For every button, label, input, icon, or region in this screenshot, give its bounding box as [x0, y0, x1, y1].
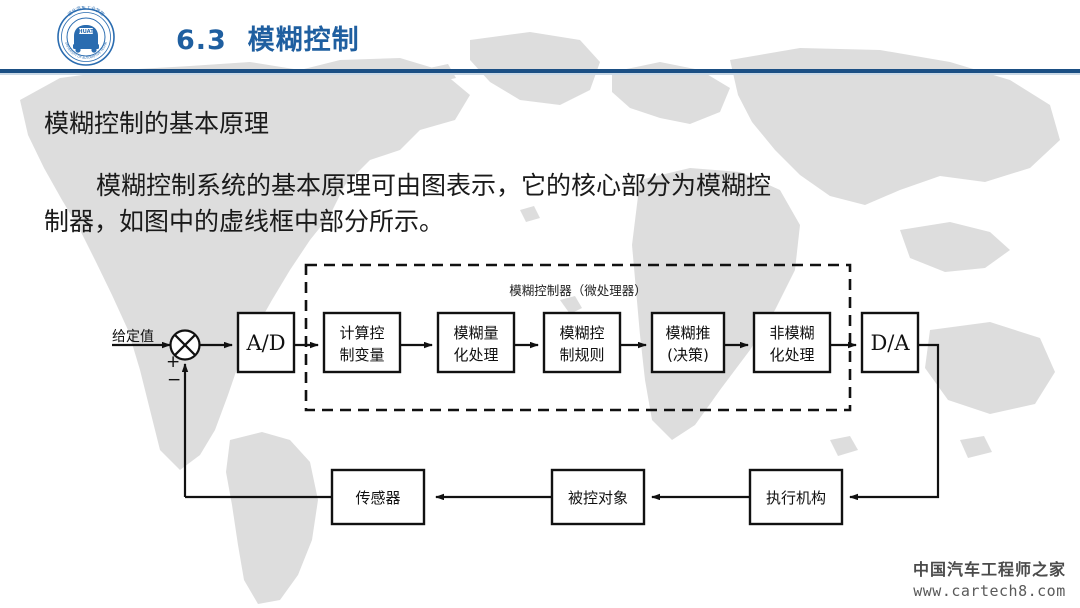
header-divider-light — [0, 73, 1080, 75]
svg-text:HUAT: HUAT — [78, 29, 94, 35]
block-sensor: 传感器 — [332, 470, 424, 524]
block-ad: A/D — [238, 313, 294, 372]
block-controlled-plant: 被控对象 — [552, 470, 644, 524]
block-da-label: D/A — [870, 331, 910, 355]
block-actuator-label: 执行机构 — [766, 489, 826, 507]
fuzzy-control-system-block-diagram: 模糊控制器（微处理器） 给定值 + − A/D 计算控 制变量 模糊量 化处理 … — [0, 0, 1080, 608]
sum-plus-sign: + — [166, 352, 180, 372]
dashed-box-label: 模糊控制器（微处理器） — [509, 283, 647, 298]
block-fuzzification: 模糊量 化处理 — [438, 313, 514, 372]
block-calc-control-variable: 计算控 制变量 — [324, 313, 400, 372]
block-plant-label: 被控对象 — [568, 489, 628, 507]
block-fuzzy-control-rules: 模糊控 制规则 — [544, 313, 620, 372]
block-fuzzify-label-1: 模糊量 — [453, 324, 498, 342]
setpoint-input-label: 给定值 — [112, 329, 154, 345]
paragraph-line-1: 模糊控制系统的基本原理可由图表示，它的核心部分为模糊控 — [96, 171, 771, 200]
block-inference-label-1: 模糊推 — [665, 324, 710, 342]
block-defuzzify-label-2: 化处理 — [769, 346, 814, 364]
huat-university-emblem-logo: HUAT 湖北汽车工业学院 HUBEI UNIVERSITY OF AUTOMO… — [47, 6, 125, 68]
body-paragraph: 模糊控制系统的基本原理可由图表示，它的核心部分为模糊控 制器，如图中的虚线框中部… — [44, 168, 1004, 240]
block-defuzzification: 非模糊 化处理 — [754, 313, 830, 372]
block-calc-label-2: 制变量 — [339, 346, 384, 364]
slide-header: HUAT 湖北汽车工业学院 HUBEI UNIVERSITY OF AUTOMO… — [0, 0, 1080, 72]
block-calc-label-1: 计算控 — [339, 324, 384, 342]
paragraph-line-2: 制器，如图中的虚线框中部分所示。 — [44, 207, 444, 236]
sum-minus-sign: − — [167, 370, 181, 390]
section-subheading: 模糊控制的基本原理 — [44, 104, 269, 140]
block-ad-label: A/D — [245, 331, 285, 355]
block-inference-label-2: (决策) — [667, 346, 709, 364]
site-watermark: 中国汽车工程师之家 www.cartech8.com — [913, 556, 1066, 600]
block-rules-label-1: 模糊控 — [559, 324, 604, 342]
block-defuzzify-label-1: 非模糊 — [769, 324, 814, 342]
watermark-url: www.cartech8.com — [913, 582, 1066, 600]
page-title: 6.3 模糊控制 — [176, 18, 360, 57]
block-sensor-label: 传感器 — [355, 489, 400, 507]
block-actuator: 执行机构 — [750, 470, 842, 524]
block-rules-label-2: 制规则 — [559, 346, 604, 364]
watermark-chinese-text: 中国汽车工程师之家 — [913, 556, 1066, 580]
block-da: D/A — [862, 313, 918, 372]
block-fuzzy-inference: 模糊推 (决策) — [652, 313, 724, 372]
block-fuzzify-label-2: 化处理 — [453, 346, 498, 364]
